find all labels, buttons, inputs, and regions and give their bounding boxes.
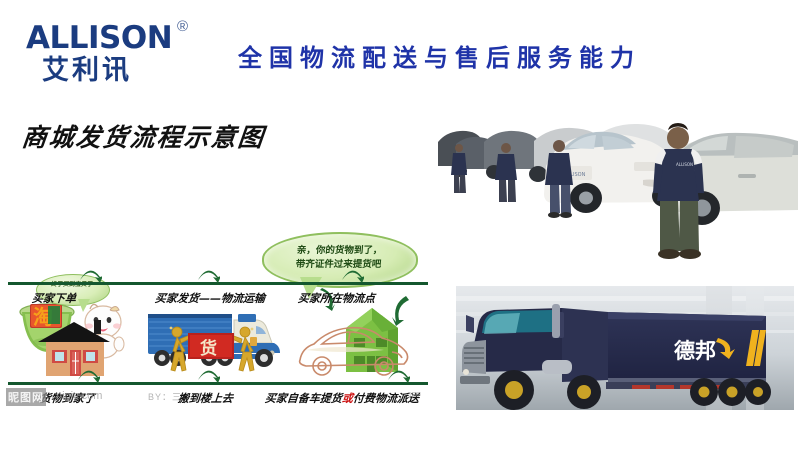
delivery-notice-line-1: 亲，你的货物到了， <box>270 244 409 258</box>
flow-label-self-pickup-prefix: 买家自备车提货 <box>264 392 342 405</box>
home-icon <box>36 316 114 380</box>
flow-label-shipping: 买家发货——物流运输 <box>154 290 265 306</box>
page-title: 全国物流配送与售后服务能力 <box>238 38 758 73</box>
svg-text:ALLISON: ALLISON <box>676 162 693 167</box>
flow-arrow-2 <box>196 266 220 284</box>
flow-label-self-pickup: 买家自备车提货或付费物流派送 <box>264 390 419 406</box>
flow-arrow-4 <box>76 366 100 384</box>
flow-arrow-5 <box>196 366 220 384</box>
brand-wordmark: ALLISON <box>26 22 201 54</box>
slide-canvas: ALLISON ® 艾利讯 全国物流配送与售后服务能力 商城发货流程示意图 淘 <box>0 0 800 450</box>
flow-arrow-6 <box>386 366 410 384</box>
buyer-speech-bubble-tail <box>78 299 90 312</box>
flow-label-order: 买家下单 <box>31 290 76 306</box>
service-fleet-photo: ALLISON <box>438 108 798 268</box>
brand-chinese-name: 艾利讯 <box>42 56 201 86</box>
deppon-logistics-truck-photo: 德邦 <box>456 286 794 410</box>
delivery-notice-line-2: 带齐证件过来提货吧 <box>269 258 408 272</box>
delivery-notice-bubble-text: 亲，你的货物到了， 带齐证件过来提货吧 <box>269 244 409 272</box>
registered-trademark-icon: ® <box>177 18 188 35</box>
flow-label-arrived: 货物到家了 <box>39 390 95 406</box>
flow-label-station: 买家所在物流点 <box>297 290 375 306</box>
flow-label-upstairs: 搬到楼上去 <box>177 390 233 406</box>
brand-logo: ALLISON ® 艾利讯 <box>26 22 201 88</box>
flow-arrow-1 <box>78 266 102 284</box>
crate-label: 货 <box>200 338 217 359</box>
shipping-flow-diagram: 商城发货流程示意图 淘 <box>0 104 440 424</box>
deppon-brand-text: 德邦 <box>674 339 716 363</box>
flow-arrow-3 <box>340 266 364 284</box>
flow-diagram-title: 商城发货流程示意图 <box>20 118 267 154</box>
flow-label-self-pickup-suffix: 付费物流派送 <box>352 392 419 405</box>
flow-arrow-down-to-car <box>386 294 412 328</box>
